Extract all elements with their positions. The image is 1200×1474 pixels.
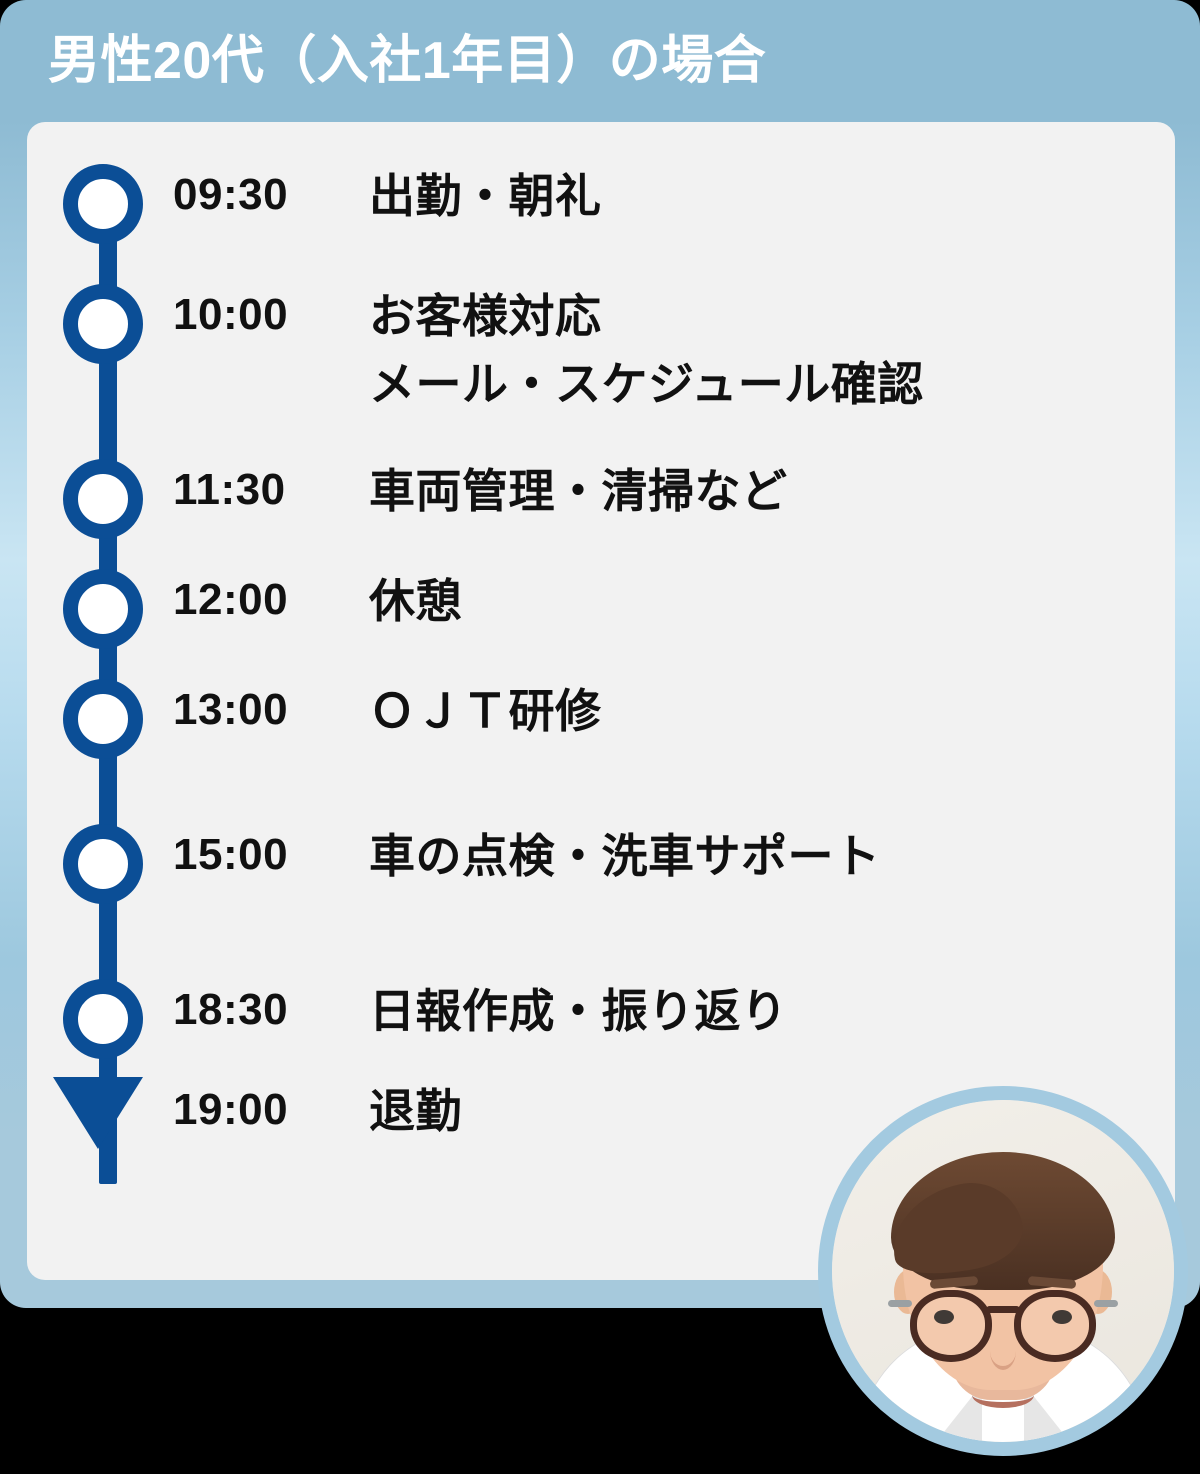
portrait-nose xyxy=(990,1332,1016,1370)
timeline-task: 車両管理・清掃など xyxy=(369,457,788,525)
circle-node-icon xyxy=(63,979,143,1059)
timeline-task: お客様対応 メール・スケジュール確認 xyxy=(369,282,924,418)
timeline-row[interactable]: 10:00お客様対応 メール・スケジュール確認 xyxy=(27,282,1175,418)
timeline-row[interactable]: 11:30車両管理・清掃など xyxy=(27,457,1175,527)
timeline-node-marker xyxy=(27,457,173,527)
timeline-time: 10:00 xyxy=(173,282,369,348)
circle-node-icon xyxy=(63,459,143,539)
portrait-mouth xyxy=(972,1382,1034,1408)
page-title: 男性20代（入社1年目）の場合 xyxy=(48,35,766,87)
timeline-task: ＯＪＴ研修 xyxy=(369,677,602,745)
timeline-row[interactable]: 13:00ＯＪＴ研修 xyxy=(27,677,1175,747)
timeline-task: 休憩 xyxy=(369,567,462,635)
timeline-row[interactable]: 12:00休憩 xyxy=(27,567,1175,637)
circle-node-icon xyxy=(63,569,143,649)
circle-node-icon xyxy=(63,284,143,364)
timeline-node-marker xyxy=(27,162,173,232)
timeline-task: 日報作成・振り返り xyxy=(369,977,788,1045)
timeline-node-marker xyxy=(27,677,173,747)
infographic-stage: 男性20代（入社1年目）の場合 09:30出勤・朝礼10:00お客様対応 メール… xyxy=(0,0,1200,1474)
timeline-node-marker xyxy=(27,567,173,637)
timeline-end-marker xyxy=(27,1077,173,1147)
timeline-time: 18:30 xyxy=(173,977,369,1043)
timeline-row[interactable]: 15:00車の点検・洗車サポート xyxy=(27,822,1175,892)
glasses-temple-right-icon xyxy=(1094,1300,1118,1307)
timeline-time: 13:00 xyxy=(173,677,369,743)
avatar-photo xyxy=(832,1100,1174,1442)
timeline-time: 12:00 xyxy=(173,567,369,633)
header-bar: 男性20代（入社1年目）の場合 xyxy=(0,0,1200,122)
timeline-time: 11:30 xyxy=(173,457,369,523)
timeline-time: 19:00 xyxy=(173,1077,369,1143)
glasses-temple-left-icon xyxy=(888,1300,912,1307)
avatar: employee-portrait xyxy=(818,1086,1188,1456)
circle-node-icon xyxy=(63,679,143,759)
circle-node-icon xyxy=(63,164,143,244)
glasses-lens-left-icon xyxy=(910,1290,992,1362)
glasses-bridge-icon xyxy=(986,1306,1020,1313)
timeline-task: 退勤 xyxy=(369,1077,462,1145)
timeline-row[interactable]: 18:30日報作成・振り返り xyxy=(27,977,1175,1047)
timeline-node-marker xyxy=(27,282,173,352)
timeline-node-marker xyxy=(27,822,173,892)
timeline-task: 出勤・朝礼 xyxy=(369,162,602,230)
circle-node-icon xyxy=(63,824,143,904)
timeline-task: 車の点検・洗車サポート xyxy=(369,822,881,890)
timeline-time: 09:30 xyxy=(173,162,369,228)
timeline-node-marker xyxy=(27,977,173,1047)
timeline-time: 15:00 xyxy=(173,822,369,888)
down-arrow-icon xyxy=(53,1077,143,1149)
glasses-lens-right-icon xyxy=(1014,1290,1096,1362)
timeline-row[interactable]: 09:30出勤・朝礼 xyxy=(27,162,1175,232)
